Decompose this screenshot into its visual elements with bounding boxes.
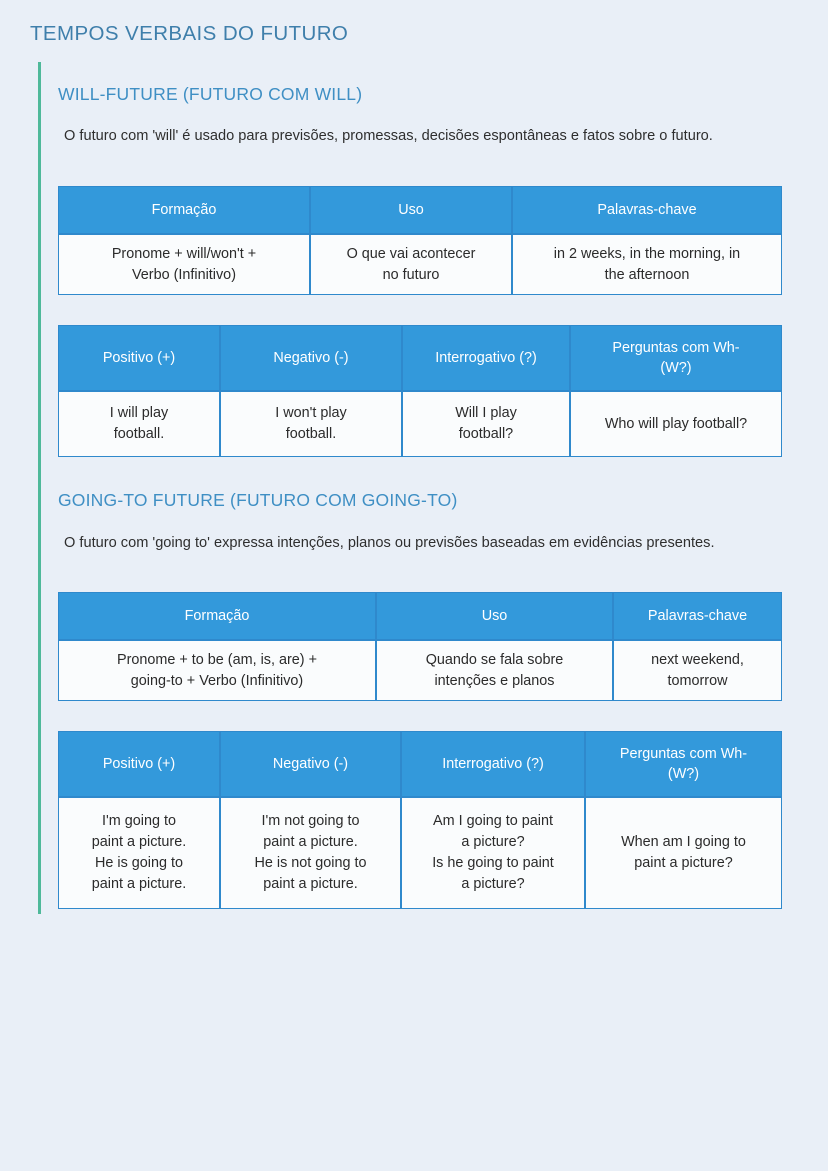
section-accent-rail [38, 62, 41, 914]
cell-positivo: I'm going topaint a picture.He is going … [58, 797, 220, 909]
table-header-row: Formação Uso Palavras-chave [58, 186, 782, 234]
table-header-row: Formação Uso Palavras-chave [58, 592, 782, 640]
column-header-palavras-chave: Palavras-chave [512, 186, 782, 234]
cell-interrogativo: Am I going to painta picture?Is he going… [401, 797, 585, 909]
document-page: TEMPOS VERBAIS DO FUTURO WILL-FUTURE (FU… [0, 0, 828, 1171]
table-row: Pronome + to be (am, is, are) +going-to … [58, 640, 782, 701]
column-header-perguntas-wh: Perguntas com Wh-(W?) [585, 731, 782, 797]
cell-formacao: Pronome + will/won't +Verbo (Infinitivo) [58, 234, 310, 295]
table-row: Pronome + will/won't +Verbo (Infinitivo)… [58, 234, 782, 295]
column-header-positivo: Positivo (+) [58, 325, 220, 391]
column-header-interrogativo: Interrogativo (?) [402, 325, 570, 391]
table-goingto-formation: Formação Uso Palavras-chave Pronome + to… [58, 592, 782, 701]
cell-perguntas-wh: Who will play football? [570, 391, 782, 457]
column-header-perguntas-wh: Perguntas com Wh-(W?) [570, 325, 782, 391]
cell-positivo: I will playfootball. [58, 391, 220, 457]
column-header-negativo: Negativo (-) [220, 325, 402, 391]
section-paragraph-will-future: O futuro com 'will' é usado para previsõ… [64, 123, 780, 149]
column-header-palavras-chave: Palavras-chave [613, 592, 782, 640]
column-header-uso: Uso [376, 592, 613, 640]
cell-uso: O que vai acontecerno futuro [310, 234, 512, 295]
table-will-forms: Positivo (+) Negativo (-) Interrogativo … [58, 325, 782, 457]
column-header-formacao: Formação [58, 186, 310, 234]
column-header-positivo: Positivo (+) [58, 731, 220, 797]
column-header-formacao: Formação [58, 592, 376, 640]
column-header-negativo: Negativo (-) [220, 731, 401, 797]
table-goingto-forms: Positivo (+) Negativo (-) Interrogativo … [58, 731, 782, 909]
page-title: TEMPOS VERBAIS DO FUTURO [30, 22, 348, 46]
table-row: I'm going topaint a picture.He is going … [58, 797, 782, 909]
cell-palavras-chave: in 2 weeks, in the morning, inthe aftern… [512, 234, 782, 295]
table-row: I will playfootball. I won't playfootbal… [58, 391, 782, 457]
column-header-interrogativo: Interrogativo (?) [401, 731, 585, 797]
cell-palavras-chave: next weekend,tomorrow [613, 640, 782, 701]
cell-perguntas-wh: When am I going topaint a picture? [585, 797, 782, 909]
section-heading-going-to-future: GOING-TO FUTURE (FUTURO COM GOING-TO) [58, 490, 458, 511]
column-header-uso: Uso [310, 186, 512, 234]
table-will-formation: Formação Uso Palavras-chave Pronome + wi… [58, 186, 782, 295]
cell-interrogativo: Will I playfootball? [402, 391, 570, 457]
table-header-row: Positivo (+) Negativo (-) Interrogativo … [58, 325, 782, 391]
cell-negativo: I won't playfootball. [220, 391, 402, 457]
section-heading-will-future: WILL-FUTURE (FUTURO COM WILL) [58, 84, 362, 105]
section-paragraph-going-to-future: O futuro com 'going to' expressa intençõ… [64, 530, 770, 556]
cell-negativo: I'm not going topaint a picture.He is no… [220, 797, 401, 909]
cell-uso: Quando se fala sobreintenções e planos [376, 640, 613, 701]
table-header-row: Positivo (+) Negativo (-) Interrogativo … [58, 731, 782, 797]
cell-formacao: Pronome + to be (am, is, are) +going-to … [58, 640, 376, 701]
